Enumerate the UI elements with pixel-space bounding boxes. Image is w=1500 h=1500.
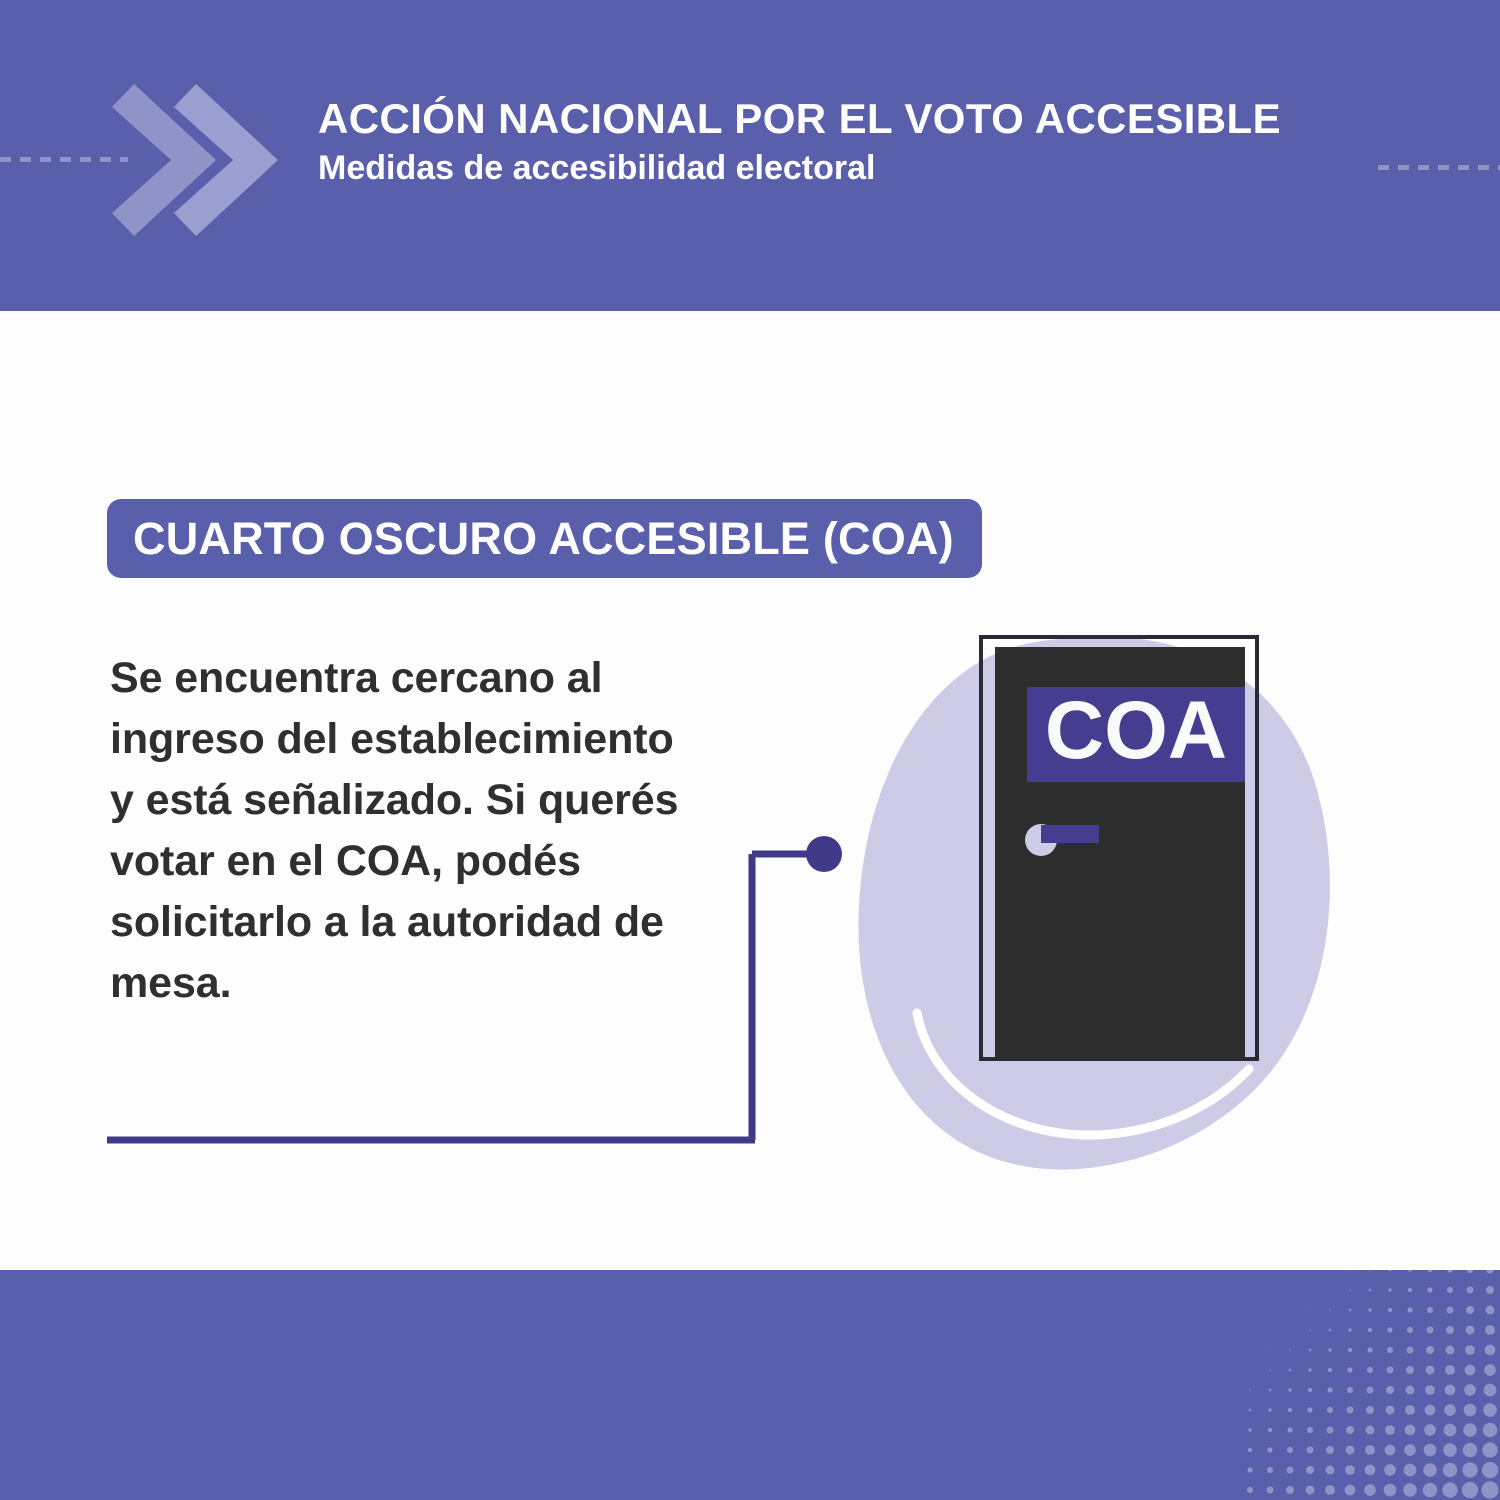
section-body-text: Se encuentra cercano al ingreso del esta…	[110, 648, 680, 1014]
infographic-canvas: ACCIÓN NACIONAL POR EL VOTO ACCESIBLE Me…	[0, 0, 1500, 1500]
accessible-dark-room-door-illustration: COA	[845, 615, 1345, 1215]
page-title: ACCIÓN NACIONAL POR EL VOTO ACCESIBLE	[318, 96, 1368, 142]
footer-band	[0, 1270, 1500, 1500]
halftone-dot-pattern-icon	[1240, 1270, 1500, 1500]
door-sign-label: COA	[1045, 685, 1227, 776]
connector-dot-icon	[806, 836, 842, 872]
chevron-right-icon-2	[174, 76, 278, 244]
header-text-group: ACCIÓN NACIONAL POR EL VOTO ACCESIBLE Me…	[318, 96, 1368, 188]
section-title-badge: CUARTO OSCURO ACCESIBLE (COA)	[107, 499, 982, 578]
dashed-rule-right-icon	[1378, 165, 1500, 170]
header-band: ACCIÓN NACIONAL POR EL VOTO ACCESIBLE Me…	[0, 0, 1500, 311]
double-chevron-right-icon	[112, 76, 292, 244]
section-title-label: CUARTO OSCURO ACCESIBLE (COA)	[133, 516, 954, 561]
dashed-rule-left-icon	[0, 157, 128, 162]
page-subtitle: Medidas de accesibilidad electoral	[318, 150, 1368, 187]
